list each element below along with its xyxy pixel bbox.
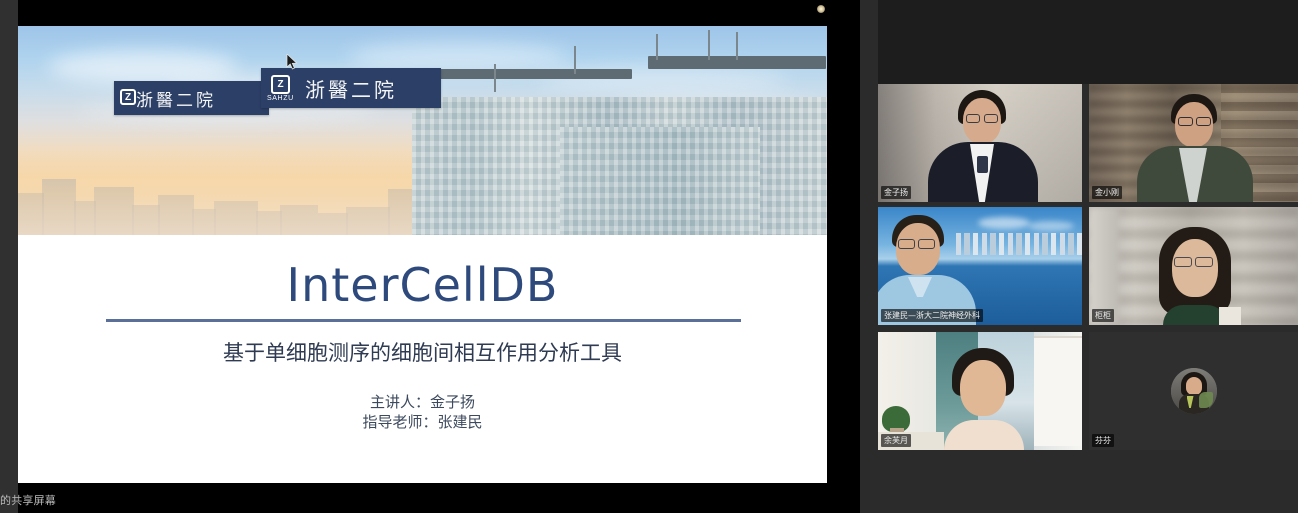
hospital-sign-left: Z 浙醫二院 [114,81,269,115]
share-highlight-dot [817,5,825,13]
panel-top-padding [860,0,1298,84]
roof-mast [736,32,738,60]
sahzu-logo-icon: Z [120,89,136,105]
hospital-sign-right: Z SAHZU 浙醫二院 [261,68,441,108]
slide-presenter: 主讲人：金子扬 [18,391,827,412]
video-tile-participant-6[interactable]: 芬芬 [1089,332,1298,450]
meeting-window: Z 浙醫二院 Z SAHZU 浙醫二院 InterCellDB 基于单细胞测序的… [0,0,1298,513]
participant-name-label: 余芙月 [881,434,911,447]
roof-mast [656,34,658,60]
slide-advisor: 指导老师：张建民 [18,411,827,432]
video-tile-participant-4[interactable]: 柜柜 [1089,207,1298,325]
participant-panel: 金子扬 金小刚 张建民—浙大二院神经外科 [860,0,1298,513]
roof-mast [494,64,496,92]
shared-screen-region[interactable]: Z 浙醫二院 Z SAHZU 浙醫二院 InterCellDB 基于单细胞测序的… [0,0,860,513]
video-tile-participant-2[interactable]: 金小刚 [1089,84,1298,202]
sahzu-logo-icon: Z [271,75,290,94]
roof-mast [708,30,710,60]
slide-hero-photo: Z 浙醫二院 Z SAHZU 浙醫二院 [18,26,827,235]
hospital-sign-abbr: SAHZU [267,95,294,102]
mouse-cursor-icon [286,54,298,70]
video-tile-participant-3[interactable]: 张建民—浙大二院神经外科 [878,207,1082,325]
roof-mast [574,46,576,74]
slide-divider [106,319,741,322]
slide-subtitle: 基于单细胞测序的细胞间相互作用分析工具 [18,337,827,367]
avatar [1171,368,1217,414]
share-bottom-border [18,483,827,513]
hospital-building [412,97,827,235]
share-right-border [827,0,860,513]
participant-name-label: 金子扬 [881,186,911,199]
roof-cap [408,69,632,79]
hospital-sign-left-text: 浙醫二院 [136,86,216,111]
hospital-sign-right-text: 浙醫二院 [305,74,397,103]
share-left-border [0,0,18,513]
participant-name-label: 芬芬 [1092,434,1114,447]
participant-name-label: 金小刚 [1092,186,1122,199]
presentation-slide[interactable]: Z 浙醫二院 Z SAHZU 浙醫二院 InterCellDB 基于单细胞测序的… [18,26,827,483]
participant-name-label: 柜柜 [1092,309,1114,322]
slide-title: InterCellDB [18,258,827,312]
participant-name-label: 张建民—浙大二院神经外科 [881,309,983,322]
video-tile-participant-5[interactable]: 余芙月 [878,332,1082,450]
hospital-building-wing [560,127,760,235]
screen-share-indicator: 的共享屏幕 [0,492,56,508]
panel-left-gutter [860,0,878,513]
video-tile-participant-1[interactable]: 金子扬 [878,84,1082,202]
